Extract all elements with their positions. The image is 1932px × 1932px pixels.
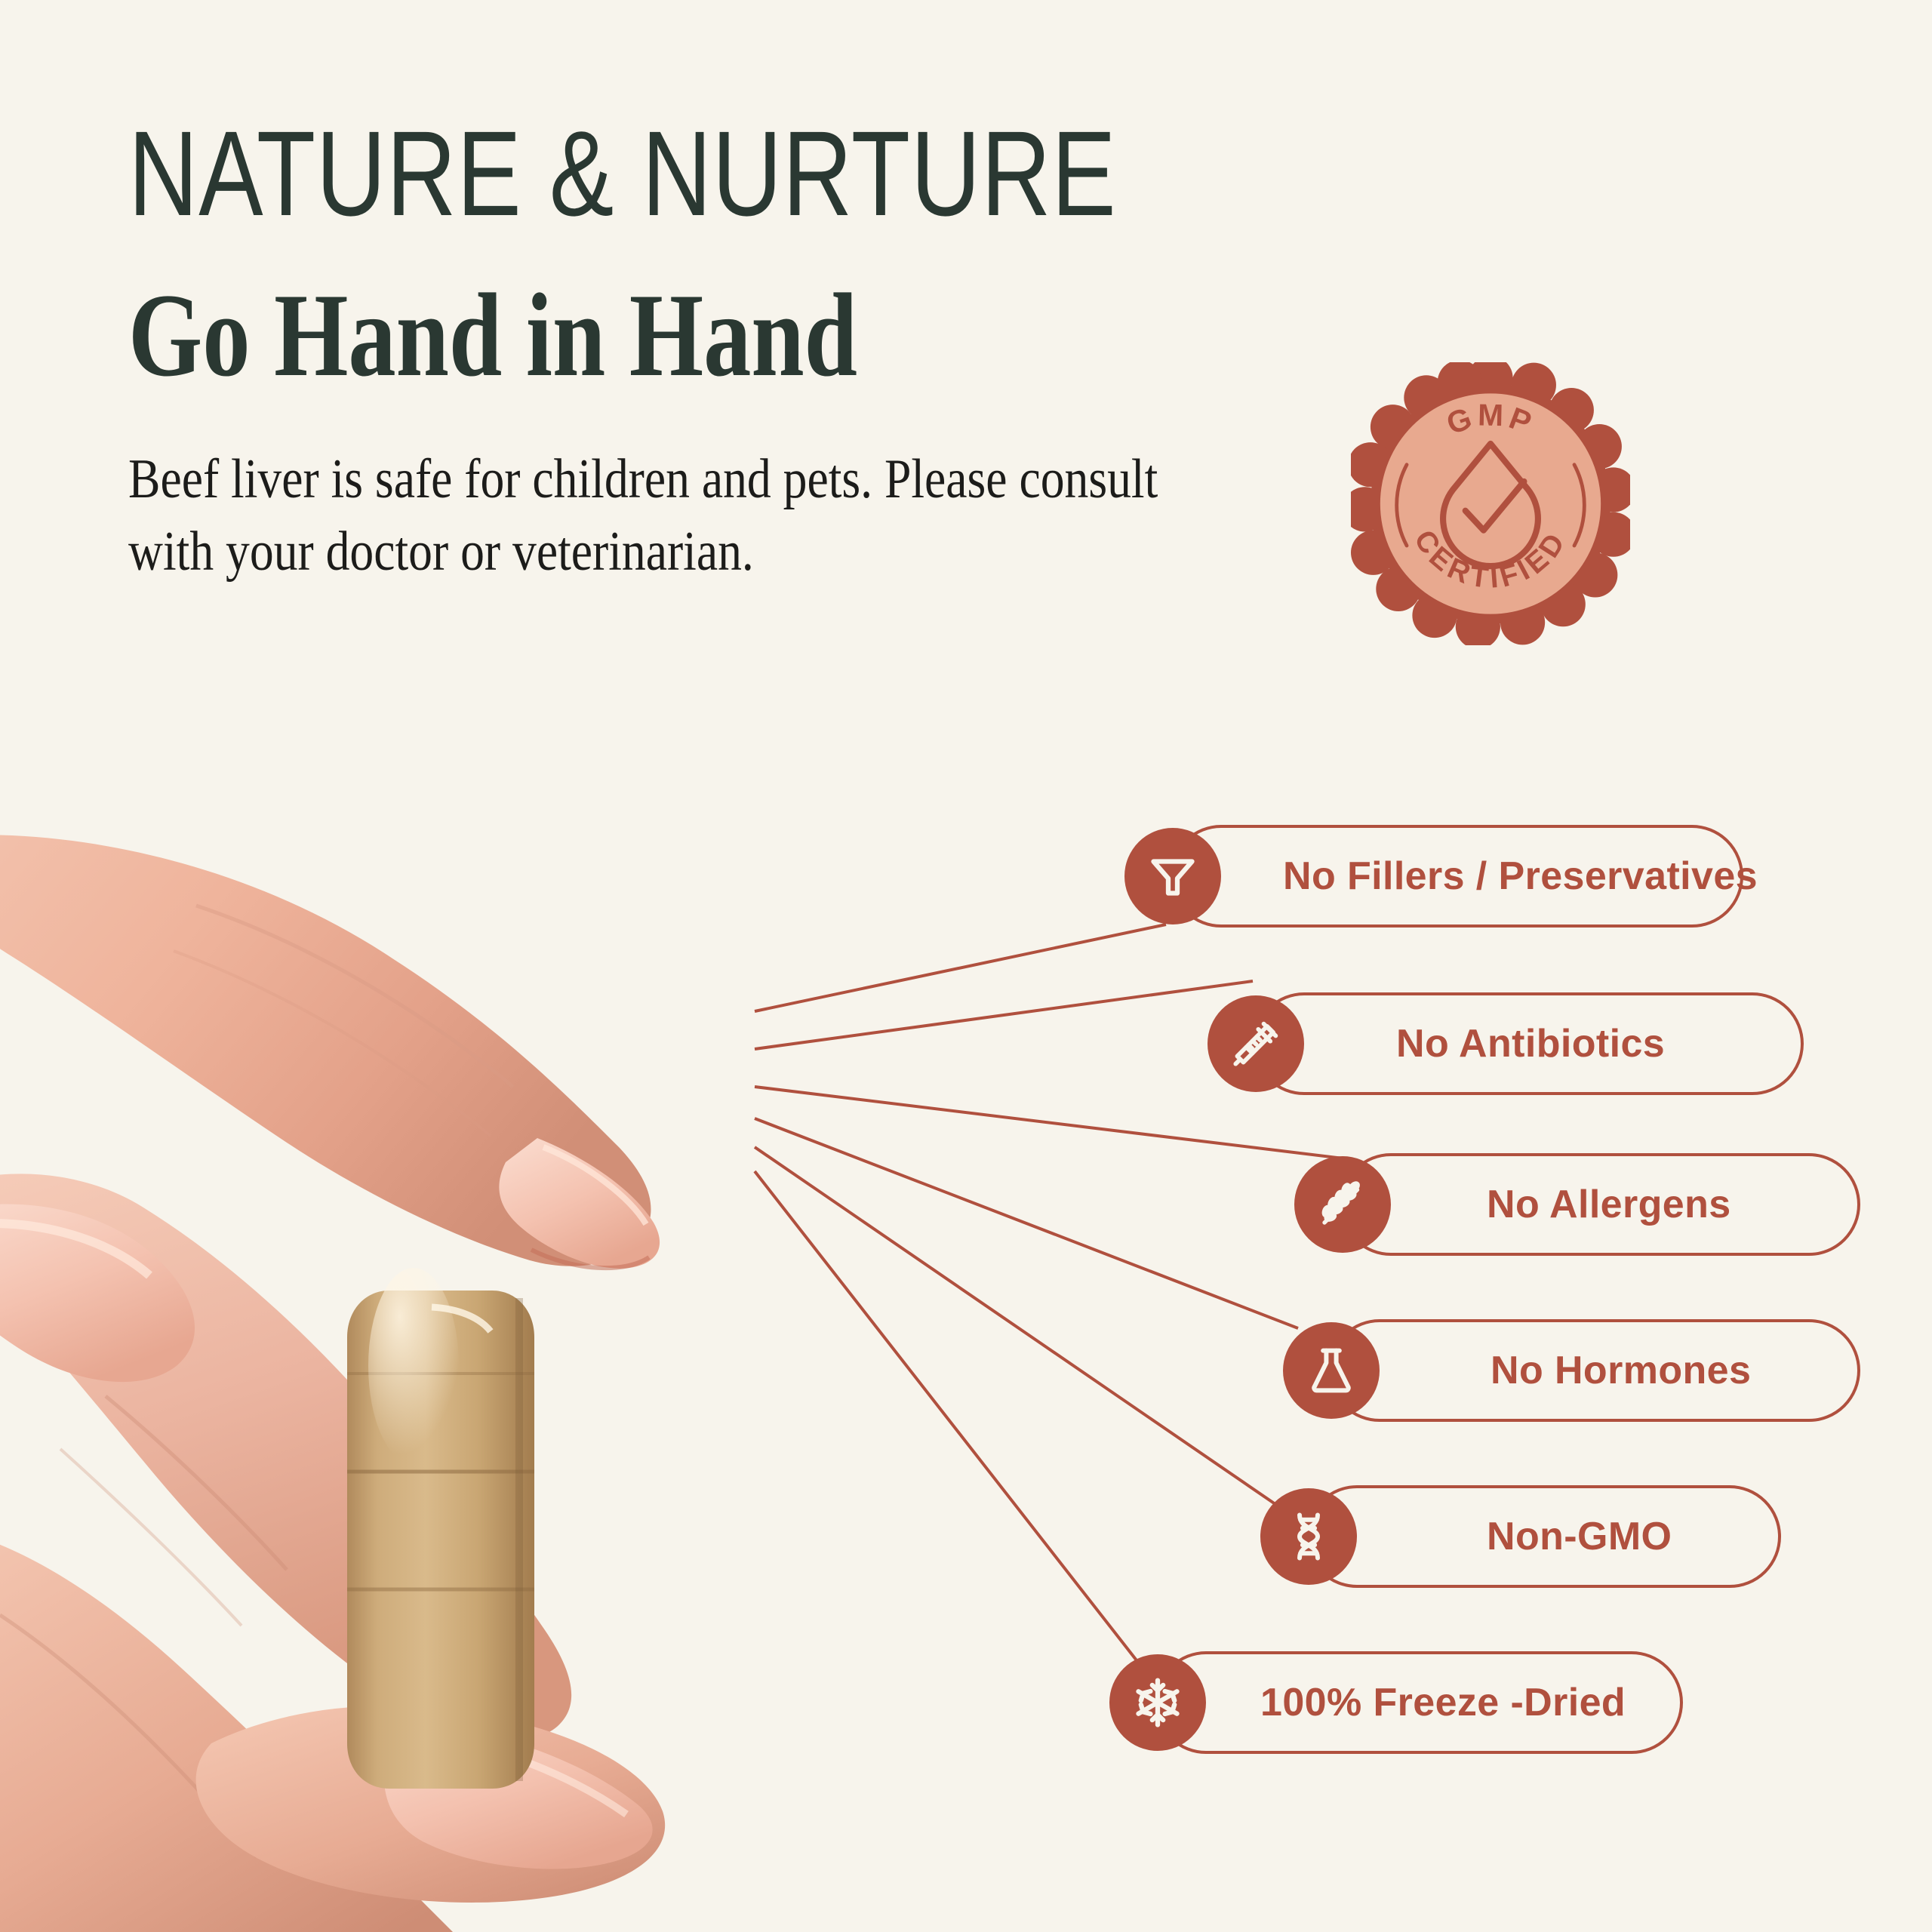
feature-label: No Antibiotics: [1396, 1021, 1665, 1066]
flask-icon: [1283, 1322, 1380, 1419]
feature-pill-6[interactable]: 100% Freeze -Dried: [1109, 1651, 1683, 1754]
eyebrow-title: NATURE & NURTURE: [128, 113, 1070, 234]
headline-block: NATURE & NURTURE Go Hand in Hand Beef li…: [128, 113, 1306, 588]
feature-label: No Fillers / Preservatives: [1283, 854, 1758, 899]
funnel-icon: [1124, 828, 1221, 924]
feature-pill-3[interactable]: No Allergens: [1294, 1153, 1860, 1256]
connector-line-3: [755, 1087, 1343, 1158]
hand-holding-capsule-photo: [0, 770, 830, 1932]
feature-label: No Allergens: [1487, 1182, 1731, 1227]
feature-label: Non-GMO: [1487, 1514, 1672, 1559]
feature-pill-1[interactable]: No Fillers / Preservatives: [1124, 825, 1743, 928]
connector-line-4: [755, 1118, 1298, 1328]
body-copy: Beef liver is safe for children and pets…: [128, 443, 1232, 588]
gmp-certified-badge: GMP CERTIFIED: [1351, 362, 1630, 645]
snowflake-icon: [1109, 1654, 1206, 1751]
wheat-icon: [1294, 1156, 1391, 1253]
capsule: [347, 1268, 534, 1789]
page-title: Go Hand in Hand: [128, 272, 1070, 401]
feature-pill-4[interactable]: No Hormones: [1283, 1319, 1860, 1422]
feature-label: No Hormones: [1491, 1348, 1751, 1393]
syringe-icon: [1207, 995, 1304, 1092]
feature-pill-5[interactable]: Non-GMO: [1260, 1485, 1781, 1588]
feature-label: 100% Freeze -Dried: [1260, 1680, 1626, 1725]
dna-icon: [1260, 1488, 1357, 1585]
connector-line-5: [755, 1147, 1283, 1509]
feature-pill-2[interactable]: No Antibiotics: [1207, 992, 1804, 1095]
